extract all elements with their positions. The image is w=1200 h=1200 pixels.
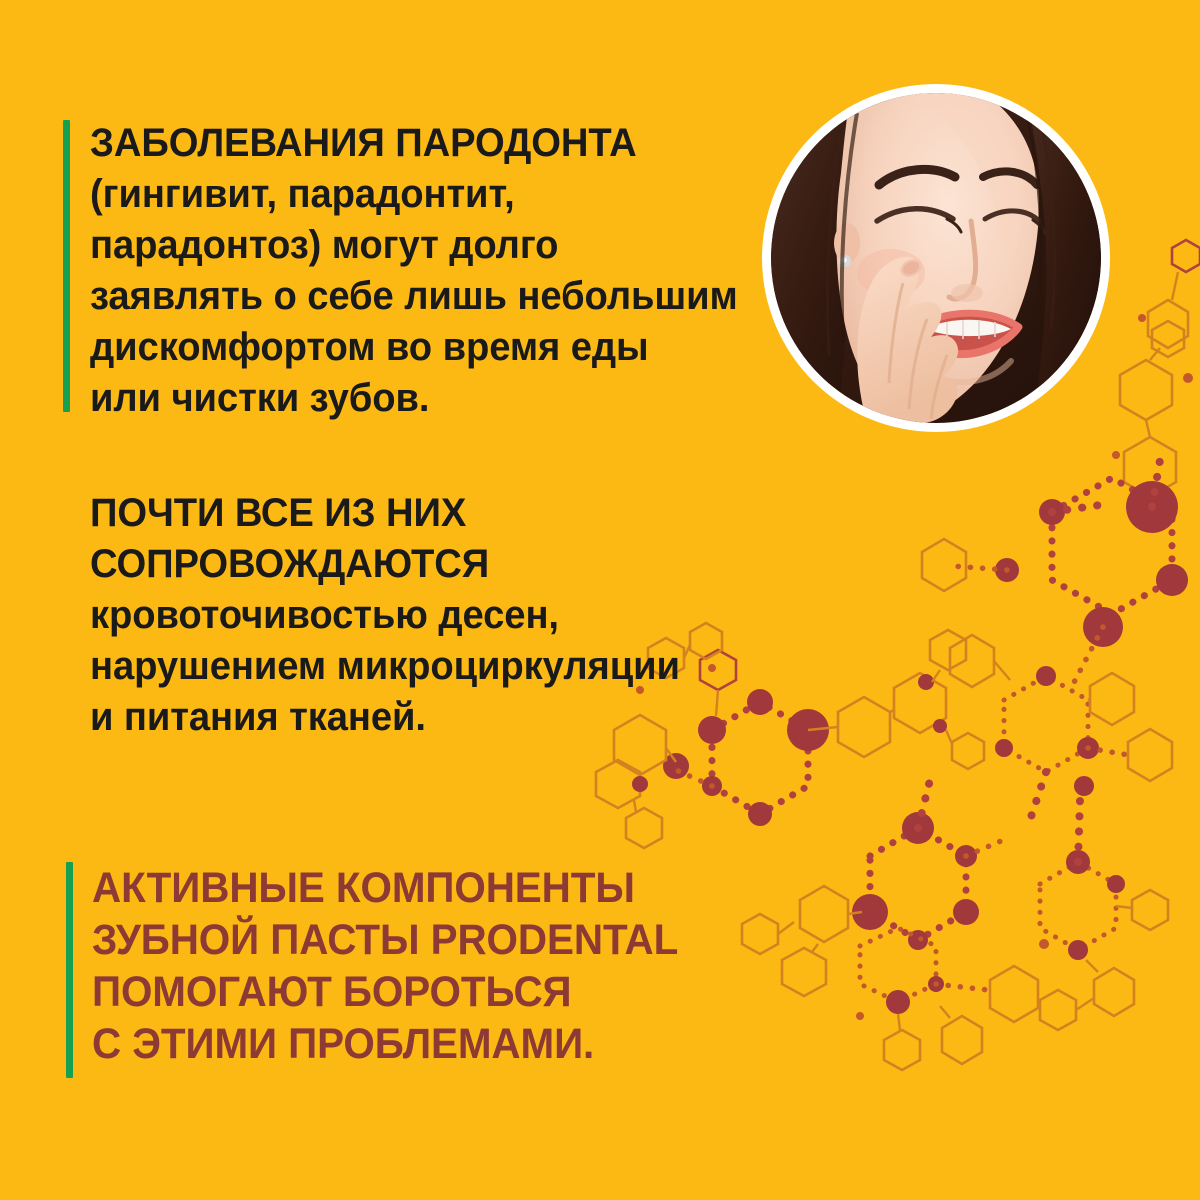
cta-line-3: ПОМОГАЮТ БОРОТЬСЯ	[92, 966, 769, 1018]
symptoms-line-1: ПОЧТИ ВСЕ ИЗ НИХ	[90, 488, 749, 539]
text-block-symptoms: ПОЧТИ ВСЕ ИЗ НИХ СОПРОВОЖДАЮТСЯ кровоточ…	[90, 488, 780, 743]
accent-bar-bottom	[66, 862, 73, 1078]
photo-woman-toothache	[771, 93, 1101, 423]
cta-line-1: АКТИВНЫЕ КОМПОНЕНТЫ	[92, 862, 769, 914]
molecule-cluster-top-right	[1112, 240, 1200, 497]
perio-line-2: (гингивит, парадонтит,	[90, 169, 749, 220]
cta-line-4: С ЭТИМИ ПРОБЛЕМАМИ.	[92, 1018, 769, 1070]
poster-canvas: .mdot { fill: #B0413F; } .mdotsm { fill:…	[0, 0, 1200, 1200]
molecule-cluster-near-photo	[1138, 314, 1184, 357]
perio-line-1: ЗАБОЛЕВАНИЯ ПАРОДОНТА	[90, 118, 749, 169]
photo-circle-frame	[762, 84, 1110, 432]
perio-line-5: дискомфортом во время еды	[90, 322, 749, 373]
symptoms-line-2: СОПРОВОЖДАЮТСЯ	[90, 539, 749, 590]
molecule-cluster-mid-right	[950, 635, 1172, 820]
text-block-cta-prodental: АКТИВНЫЕ КОМПОНЕНТЫ ЗУБНОЙ ПАСТЫ PRODENT…	[92, 862, 812, 1070]
symptoms-line-3: кровоточивостью десен,	[90, 590, 749, 641]
symptoms-line-4: нарушением микроциркуляции	[90, 641, 749, 692]
perio-line-6: или чистки зубов.	[90, 373, 749, 424]
accent-bar-top	[63, 120, 70, 412]
perio-line-3: парадонтоз) могут долго	[90, 220, 749, 271]
perio-line-4: заявлять о себе лишь небольшим	[90, 271, 749, 322]
symptoms-line-5: и питания тканей.	[90, 692, 749, 743]
text-block-periodontal-disease: ЗАБОЛЕВАНИЯ ПАРОДОНТА (гингивит, парадон…	[90, 118, 780, 424]
molecule-hex-large-right	[922, 460, 1188, 690]
cta-line-2: ЗУБНОЙ ПАСТЫ PRODENTAL	[92, 914, 769, 966]
molecule-cluster-bottom-right	[1040, 776, 1168, 1030]
